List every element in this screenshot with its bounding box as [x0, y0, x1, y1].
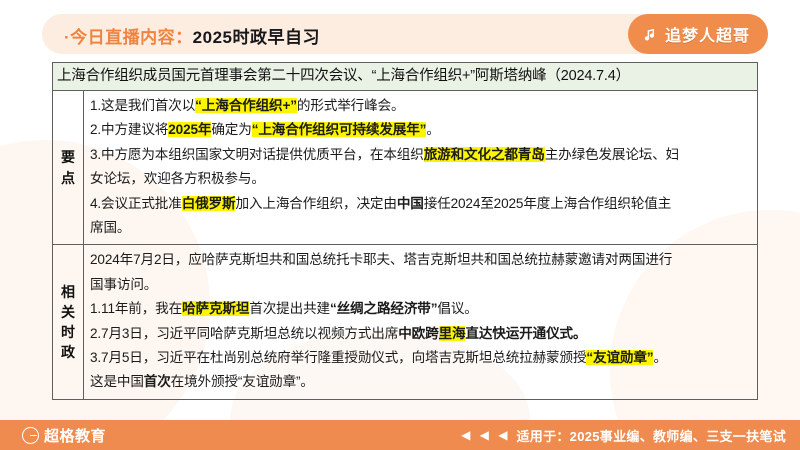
content-line: 2024年7月2日，应哈萨克斯坦共和国总统托卡耶夫、塔吉克斯坦共和国总统拉赫蒙邀…: [90, 248, 752, 272]
content-line: 3.7月5日，习近平在杜尚别总统府举行隆重授勋仪式，向塔吉克斯坦总统拉赫蒙颁授“…: [90, 346, 752, 370]
plain-text: 席国。: [90, 220, 130, 235]
bold-text: “丝绸之路经济带”: [330, 301, 437, 316]
bold-text: 直达快运开通仪式。: [465, 326, 586, 341]
footer-note-group: ◀ ◀ ◀ 适用于：2025事业编、教师编、三支一扶笔试: [461, 426, 786, 445]
highlighted-text: “友谊勋章”: [586, 350, 653, 365]
row-label-char: 要: [61, 147, 75, 167]
plain-text: 1.11年前，我在: [90, 301, 182, 316]
plain-text: 。: [426, 122, 439, 137]
row-content: 1.这是我们首次以“上海合作组织+”的形式举行峰会。2.中方建议将2025年确定…: [84, 91, 757, 244]
brand-logo: 超格教育: [22, 425, 106, 446]
footer-note: 适用于：2025事业编、教师编、三支一扶笔试: [516, 426, 786, 445]
table-row: 相关时政2024年7月2日，应哈萨克斯坦共和国总统托卡耶夫、塔吉克斯坦共和国总统…: [53, 245, 757, 398]
chaoge-circle-logo-icon: [22, 427, 39, 444]
row-label-char: 点: [61, 168, 75, 188]
plain-text: 首次提出共建: [249, 301, 330, 316]
row-label-key-points: 要点: [53, 91, 84, 244]
header-bar: ·今日直播内容：2025时政早自习 追梦人超哥: [42, 14, 768, 54]
content-line: 2.7月3日，习近平同哈萨克斯坦总统以视频方式出席中欧跨里海直达快运开通仪式。: [90, 322, 752, 346]
content-line: 3.中方愿为本组织国家文明对话提供优质平台，在本组织旅游和文化之都青岛主办绿色发…: [90, 143, 752, 167]
brand-badge[interactable]: 追梦人超哥: [628, 14, 768, 54]
highlighted-text: “上海合作组织+”: [195, 98, 297, 113]
bold-text: 首次: [144, 374, 171, 389]
plain-text: 3.7月5日，习近平在杜尚别总统府举行隆重授勋仪式，向塔吉克斯坦总统拉赫蒙颁授: [90, 350, 586, 365]
content-line: 这是中国首次在境外颁授“友谊勋章”。: [90, 370, 752, 394]
highlighted-text: 旅游和文化之都青岛: [424, 147, 545, 162]
row-label-char: 政: [61, 342, 75, 362]
plain-text: 国事访问。: [90, 277, 157, 292]
content-line: 4.会议正式批准白俄罗斯加入上海合作组织，决定由中国接任2024至2025年度上…: [90, 192, 752, 216]
row-label-char: 时: [61, 322, 75, 342]
plain-text: 3.中方愿为本组织国家文明对话提供优质平台，在本组织: [90, 147, 424, 162]
plain-text: 的形式举行峰会。: [297, 98, 405, 113]
plain-text: 加入上海合作组织，决定由: [235, 196, 396, 211]
table-rows-host: 要点1.这是我们首次以“上海合作组织+”的形式举行峰会。2.中方建议将2025年…: [53, 91, 757, 399]
left-triangles-icon: ◀ ◀ ◀: [461, 428, 510, 442]
plain-text: 1.这是我们首次以: [90, 98, 195, 113]
highlighted-text: 里海: [439, 326, 466, 341]
highlighted-text: 哈萨克斯坦: [182, 301, 249, 316]
content-line: 国事访问。: [90, 273, 752, 297]
highlighted-text: 2025年: [168, 122, 211, 137]
plain-text: 4.会议正式批准: [90, 196, 182, 211]
content-line: 2.中方建议将2025年确定为“上海合作组织可持续发展年”。: [90, 118, 752, 142]
plain-text: 在境外颁授“友谊勋章”。: [171, 374, 314, 389]
bold-text: 中国: [397, 196, 424, 211]
footer-logo-text: 超格教育: [44, 425, 106, 446]
highlighted-text: “上海合作组织可持续发展年”: [252, 122, 427, 137]
plain-text: 确定为: [211, 122, 251, 137]
footer-bar: 超格教育 ◀ ◀ ◀ 适用于：2025事业编、教师编、三支一扶笔试: [0, 420, 800, 450]
content-table: 上海合作组织成员国元首理事会第二十四次会议、“上海合作组织+”阿斯塔纳峰（202…: [52, 62, 758, 400]
content-line: 1.11年前，我在哈萨克斯坦首次提出共建“丝绸之路经济带”倡议。: [90, 297, 752, 321]
plain-text: 接任2024至2025年度上海合作组织轮值主: [424, 196, 672, 211]
plain-text: 这是中国: [90, 374, 144, 389]
slide-page: ·今日直播内容：2025时政早自习 追梦人超哥 上海合作组织成员国元首理事会第二…: [0, 0, 800, 450]
row-content: 2024年7月2日，应哈萨克斯坦共和国总统托卡耶夫、塔吉克斯坦共和国总统拉赫蒙邀…: [84, 245, 757, 398]
content-line: 席国。: [90, 216, 752, 240]
row-label-related-news: 相关时政: [53, 245, 84, 398]
plain-text: 。: [653, 350, 666, 365]
header-sub-label: 2025时政早自习: [193, 28, 320, 47]
brand-label: 追梦人超哥: [665, 22, 750, 46]
plain-text: 主办绿色发展论坛、妇: [545, 147, 679, 162]
row-label-char: 关: [61, 302, 75, 322]
music-note-icon: [642, 26, 659, 43]
plain-text: 2.7月3日，习近平同哈萨克斯坦总统以视频方式出席: [90, 326, 398, 341]
plain-text: 2.中方建议将: [90, 122, 168, 137]
page-title: ·今日直播内容：2025时政早自习: [64, 23, 320, 48]
plain-text: 2024年7月2日，应哈萨克斯坦共和国总统托卡耶夫、塔吉克斯坦共和国总统拉赫蒙邀…: [90, 252, 672, 267]
highlighted-text: 白俄罗斯: [182, 196, 236, 211]
content-line: 1.这是我们首次以“上海合作组织+”的形式举行峰会。: [90, 94, 752, 118]
table-title: 上海合作组织成员国元首理事会第二十四次会议、“上海合作组织+”阿斯塔纳峰（202…: [53, 63, 757, 91]
header-lead-label: ·今日直播内容：: [64, 28, 193, 47]
plain-text: 倡议。: [437, 301, 477, 316]
bold-text: 中欧跨: [398, 326, 438, 341]
content-line: 女论坛，欢迎各方积极参与。: [90, 167, 752, 191]
row-label-char: 相: [61, 282, 75, 302]
table-row: 要点1.这是我们首次以“上海合作组织+”的形式举行峰会。2.中方建议将2025年…: [53, 91, 757, 245]
plain-text: 女论坛，欢迎各方积极参与。: [90, 171, 265, 186]
